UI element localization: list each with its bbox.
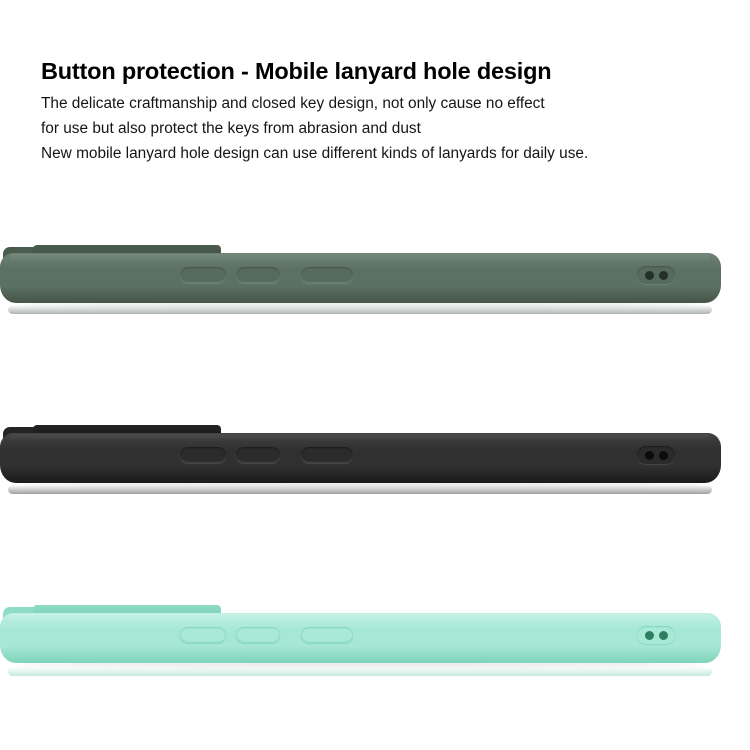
button-cover <box>180 447 226 463</box>
case-bottom-shading <box>8 485 712 494</box>
description-line-1: The delicate craftmanship and closed key… <box>41 92 713 117</box>
lanyard-hole <box>645 271 654 280</box>
button-cover <box>180 627 226 643</box>
page-title: Button protection - Mobile lanyard hole … <box>41 58 713 86</box>
case-top-highlight <box>10 254 710 261</box>
phone-case-dark-green <box>0 236 750 316</box>
button-cover <box>236 447 280 463</box>
case-bottom-shading <box>8 667 712 676</box>
lanyard-hole-plate <box>637 446 675 464</box>
button-cover <box>180 267 226 283</box>
case-top-highlight <box>10 434 710 441</box>
lanyard-hole-plate <box>637 626 675 644</box>
description-line-2: for use but also protect the keys from a… <box>41 117 713 142</box>
button-cover <box>301 447 353 463</box>
button-cover <box>236 267 280 283</box>
phone-case-black <box>0 416 750 496</box>
button-cover <box>301 267 353 283</box>
lanyard-hole <box>645 451 654 460</box>
button-cover <box>236 627 280 643</box>
lanyard-hole <box>645 631 654 640</box>
marketing-copy-block: Button protection - Mobile lanyard hole … <box>41 58 713 167</box>
phone-case-mint-green <box>0 596 750 678</box>
lanyard-hole <box>659 451 668 460</box>
lanyard-hole <box>659 631 668 640</box>
case-top-highlight <box>10 614 710 621</box>
description-line-3: New mobile lanyard hole design can use d… <box>41 142 713 167</box>
lanyard-hole-plate <box>637 266 675 284</box>
button-cover <box>301 627 353 643</box>
lanyard-hole <box>659 271 668 280</box>
case-bottom-shading <box>8 305 712 314</box>
